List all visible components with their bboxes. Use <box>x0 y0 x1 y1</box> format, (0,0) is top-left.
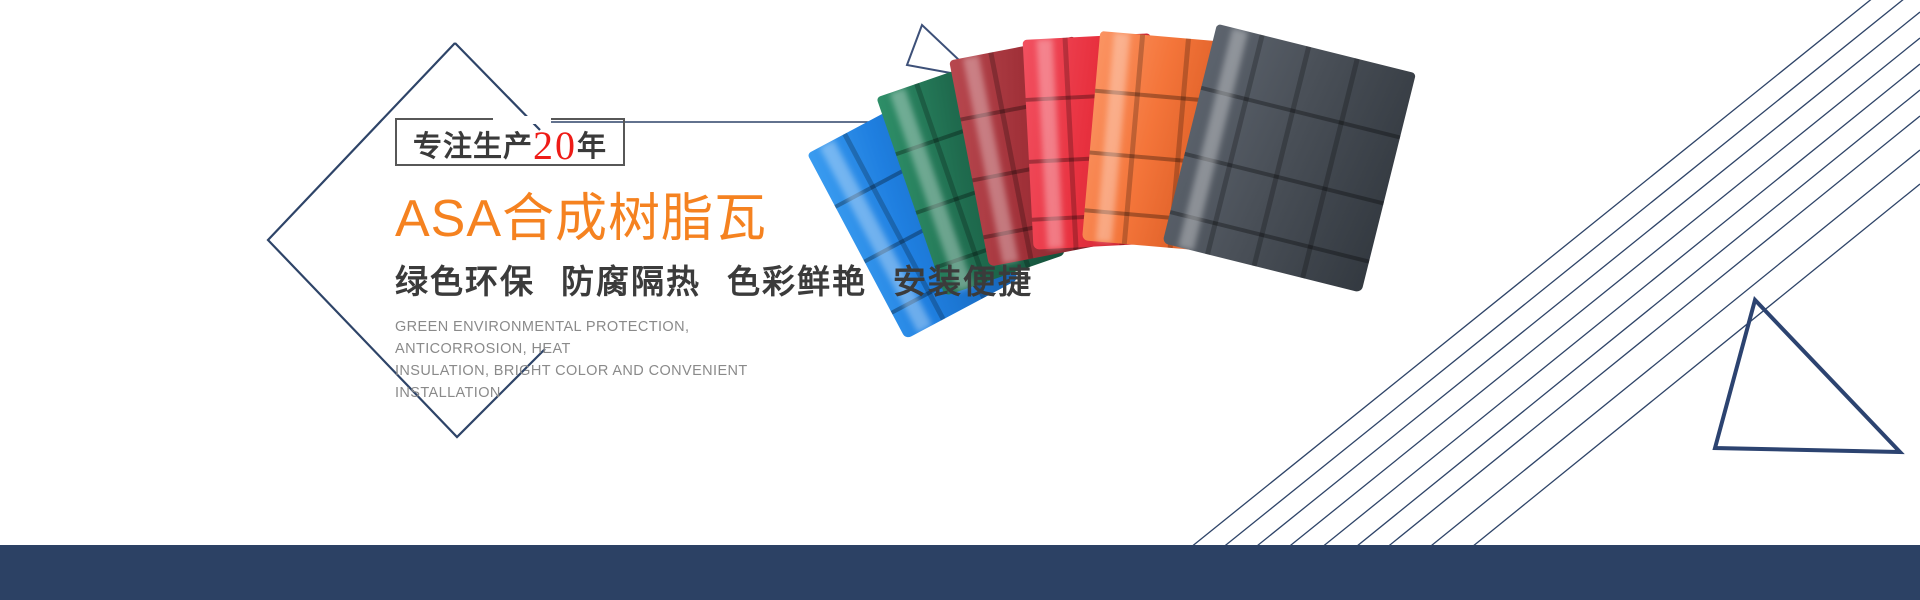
badge-text: 专注生产20年 <box>413 127 607 163</box>
feature-item: 色彩鲜艳 <box>727 263 867 300</box>
badge-prefix: 专注生产 <box>413 131 533 163</box>
promo-banner: 专注生产20年 ASA合成树脂瓦 绿色环保防腐隔热色彩鲜艳安装便捷 GREEN … <box>0 0 1920 600</box>
product-tile-fan-image <box>1040 8 1560 278</box>
bottom-bar <box>0 545 1920 600</box>
badge-years-number: 20 <box>533 123 577 168</box>
banner-text-block: 专注生产20年 ASA合成树脂瓦 绿色环保防腐隔热色彩鲜艳安装便捷 GREEN … <box>395 118 1075 404</box>
english-description-line-1: GREEN ENVIRONMENTAL PROTECTION, ANTICORR… <box>395 316 825 360</box>
feature-item: 绿色环保 <box>395 263 535 300</box>
english-description-line-2: INSULATION, BRIGHT COLOR AND CONVENIENT … <box>395 360 825 404</box>
years-badge: 专注生产20年 <box>395 118 625 166</box>
feature-item: 防腐隔热 <box>561 263 701 300</box>
badge-suffix: 年 <box>577 131 607 163</box>
feature-item: 安装便捷 <box>893 263 1033 300</box>
feature-list: 绿色环保防腐隔热色彩鲜艳安装便捷 <box>395 262 1075 302</box>
page-title: ASA合成树脂瓦 <box>395 190 1075 248</box>
english-description: GREEN ENVIRONMENTAL PROTECTION, ANTICORR… <box>395 316 825 404</box>
bottom-right-triangle-icon <box>1715 300 1900 452</box>
